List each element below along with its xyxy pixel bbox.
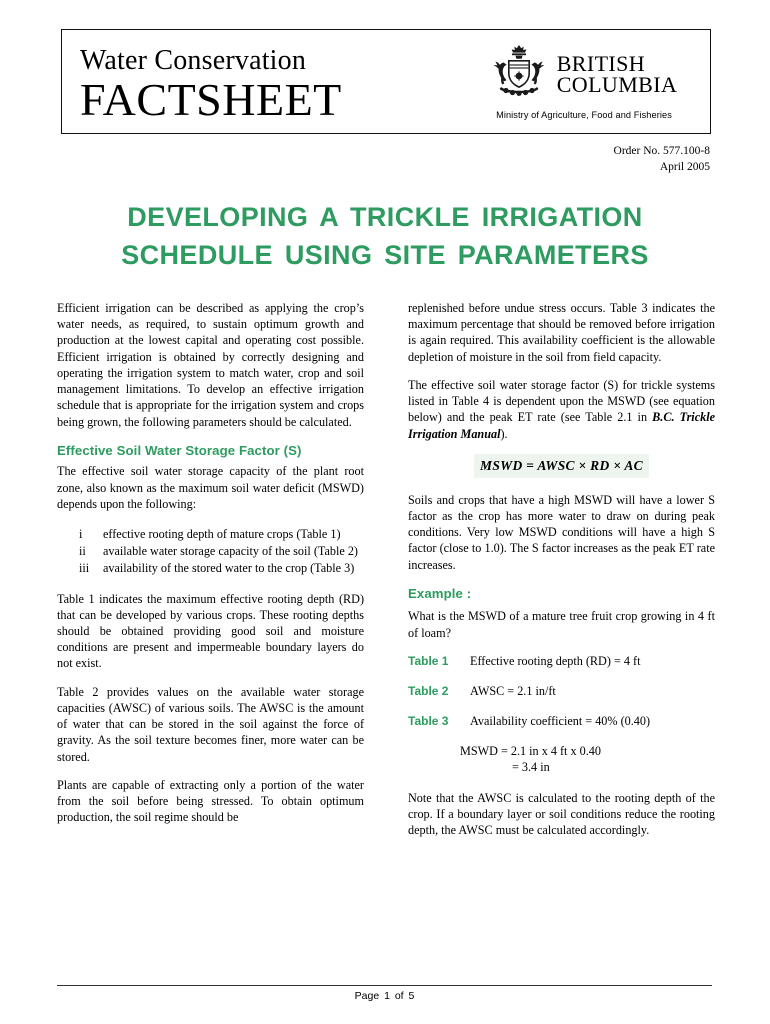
list-numeral: iii [79, 560, 101, 576]
paragraph-s-factor: The effective soil water storage factor … [408, 377, 715, 442]
calculation-line1: MSWD = 2.1 in x 4 ft x 0.40 [460, 743, 715, 759]
paragraph-plant-extraction: Plants are capable of extracting only a … [57, 777, 364, 826]
paragraph-availability-coefficient: replenished before undue stress occurs. … [408, 300, 715, 365]
page-title: DEVELOPING A TRICKLE IRRIGATION SCHEDULE… [60, 198, 710, 275]
brand-line1: BRITISH [557, 53, 678, 74]
calculation-line2: = 3.4 in [460, 759, 715, 775]
list-item-text: available water storage capacity of the … [103, 543, 364, 559]
brand-row: BRITISH COLUMBIA [491, 43, 678, 105]
list-item: ii available water storage capacity of t… [57, 543, 364, 559]
brand-wordmark: BRITISH COLUMBIA [557, 53, 678, 95]
ministry-tagline: Ministry of Agriculture, Food and Fisher… [496, 110, 672, 120]
masthead-line2: FACTSHEET [80, 77, 464, 123]
right-column: replenished before undue stress occurs. … [408, 300, 715, 838]
masthead-titles: Water Conservation FACTSHEET [62, 30, 464, 133]
publication-date: April 2005 [614, 160, 710, 176]
masthead-banner: Water Conservation FACTSHEET [61, 29, 711, 134]
masthead-brand: BRITISH COLUMBIA Ministry of Agriculture… [464, 30, 710, 133]
brand-line2: COLUMBIA [557, 74, 678, 95]
masthead-line1: Water Conservation [80, 46, 464, 75]
paragraph-table2-awsc: Table 2 provides values on the available… [57, 684, 364, 765]
page-title-line2: SCHEDULE USING SITE PARAMETERS [60, 236, 710, 274]
table-ref-label: Table 2 [408, 684, 470, 700]
list-item-text: availability of the stored water to the … [103, 560, 364, 576]
paragraph-mswd-s-relationship: Soils and crops that have a high MSWD wi… [408, 492, 715, 573]
list-item: iii availability of the stored water to … [57, 560, 364, 576]
paragraph-awsc-note: Note that the AWSC is calculated to the … [408, 790, 715, 839]
list-numeral: ii [79, 543, 101, 559]
order-number: Order No. 577.100-8 [614, 144, 710, 160]
left-column: Efficient irrigation can be described as… [57, 300, 364, 825]
table-reference-row: Table 1 Effective rooting depth (RD) = 4… [408, 653, 715, 670]
bc-coat-of-arms-icon [491, 43, 547, 105]
list-item-text: effective rooting depth of mature crops … [103, 526, 364, 542]
table-ref-label: Table 1 [408, 654, 470, 670]
mswd-equation: MSWD = AWSC × RD × AC [474, 454, 649, 478]
page-title-line1: DEVELOPING A TRICKLE IRRIGATION [60, 198, 710, 236]
page-footer: Page 1 of 5 [57, 985, 712, 1002]
table-ref-label: Table 3 [408, 714, 470, 730]
table-reference-row: Table 3 Availability coefficient = 40% (… [408, 713, 715, 730]
table-reference-row: Table 2 AWSC = 2.1 in/ft [408, 683, 715, 700]
order-info: Order No. 577.100-8 April 2005 [614, 144, 710, 175]
page-number-label: Page 1 of 5 [355, 990, 415, 1002]
paragraph-table1-rooting-depth: Table 1 indicates the maximum effective … [57, 591, 364, 672]
table-ref-value: AWSC = 2.1 in/ft [470, 683, 715, 699]
table-ref-value: Availability coefficient = 40% (0.40) [470, 713, 715, 729]
paragraph-example-question: What is the MSWD of a mature tree fruit … [408, 608, 715, 640]
section-heading-example: Example : [408, 585, 715, 603]
table-ref-value: Effective rooting depth (RD) = 4 ft [470, 653, 715, 669]
s-factor-text-part2: ). [500, 427, 507, 441]
paragraph-intro: Efficient irrigation can be described as… [57, 300, 364, 430]
list-item: i effective rooting depth of mature crop… [57, 526, 364, 542]
paragraph-mswd-definition: The effective soil water storage capacit… [57, 463, 364, 512]
section-heading-effective-soil-water-storage-factor: Effective Soil Water Storage Factor (S) [57, 442, 364, 460]
mswd-calculation: MSWD = 2.1 in x 4 ft x 0.40 = 3.4 in [408, 743, 715, 776]
document-page: Water Conservation FACTSHEET [0, 0, 770, 1024]
list-numeral: i [79, 526, 101, 542]
parameter-list: i effective rooting depth of mature crop… [57, 526, 364, 577]
